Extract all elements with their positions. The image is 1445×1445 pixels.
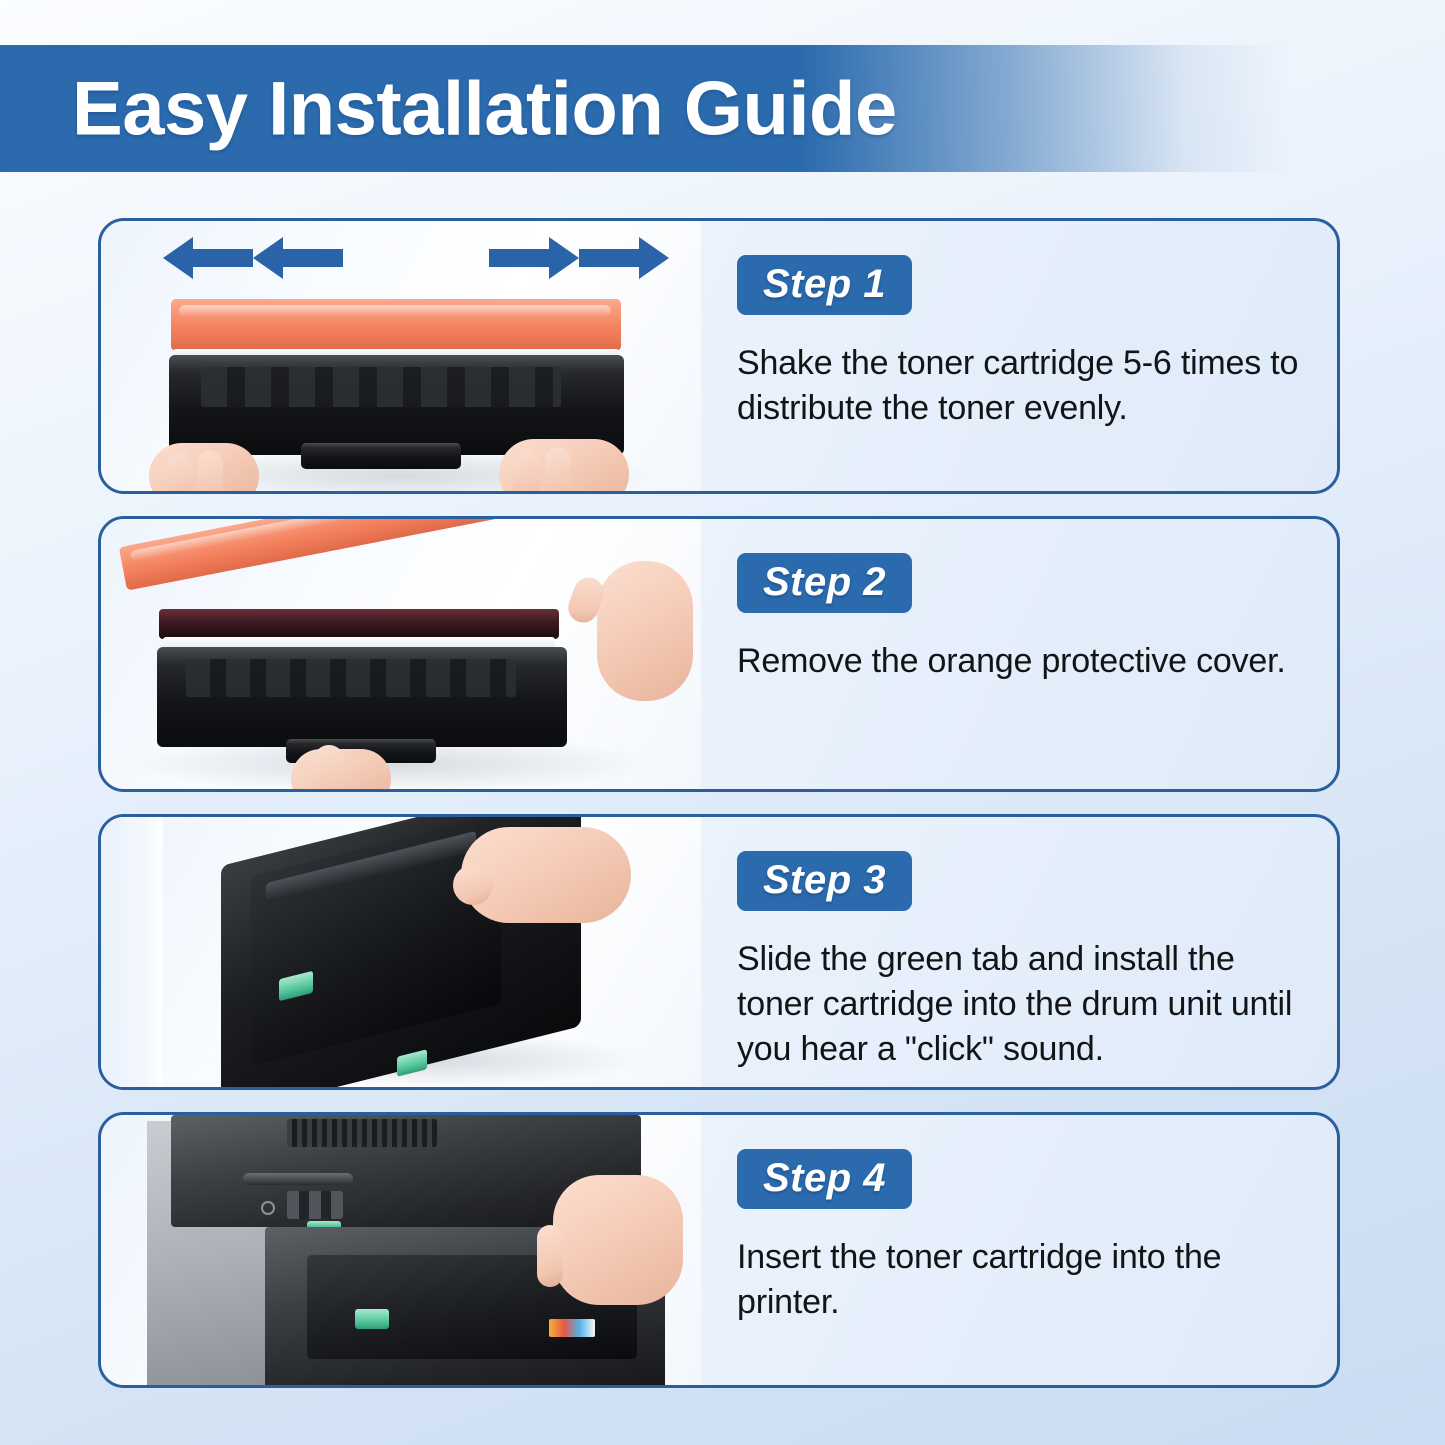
header-banner: Easy Installation Guide [0,45,1290,172]
step-4-photo [101,1115,701,1385]
cover-highlight [179,305,611,317]
index-finger [537,1225,563,1287]
step-card-1: Step 1 Shake the toner cartridge 5-6 tim… [98,218,1340,494]
page-title: Easy Installation Guide [72,65,897,152]
step-1-description: Shake the toner cartridge 5-6 times to d… [737,341,1307,431]
step-2-text-pane: Step 2 Remove the orange protective cove… [701,519,1337,789]
green-tab [355,1309,389,1329]
drum-roller [159,609,559,639]
step-2-photo [101,519,701,789]
upper-hand [597,561,693,701]
thumb [453,865,493,905]
cartridge-ribs [186,659,516,697]
right-hand-finger [545,447,571,491]
shake-arrows-group [101,235,701,281]
orange-cover-lifted [119,519,549,591]
left-hand-finger [197,451,223,491]
step-card-4: Step 4 Insert the toner cartridge into t… [98,1112,1340,1388]
step-1-badge: Step 1 [737,255,912,315]
cartridge-ribs [201,367,561,407]
arrow-right-icon [489,235,579,281]
step-2-badge: Step 2 [737,553,912,613]
step-card-2: Step 2 Remove the orange protective cove… [98,516,1340,792]
printer-display-slot [243,1173,353,1185]
steps-list: Step 1 Shake the toner cartridge 5-6 tim… [98,218,1342,1388]
step-3-photo [101,817,701,1087]
power-button-icon [261,1201,275,1215]
step-1-photo [101,221,701,491]
step-4-description: Insert the toner cartridge into the prin… [737,1235,1307,1325]
arrow-right-icon [579,235,669,281]
left-hand-finger [167,453,193,491]
cartridge-handle [301,443,461,469]
step-card-3: Step 3 Slide the green tab and install t… [98,814,1340,1090]
printer-control-buttons [287,1191,343,1219]
arrow-left-icon [253,235,343,281]
step-3-description: Slide the green tab and install the tone… [737,937,1307,1073]
printer-vent [287,1119,437,1147]
arrow-left-icon [163,235,253,281]
step-4-text-pane: Step 4 Insert the toner cartridge into t… [701,1115,1337,1385]
step-4-badge: Step 4 [737,1149,912,1209]
color-label [549,1319,595,1337]
lower-hand-finger [313,745,345,789]
step-2-description: Remove the orange protective cover. [737,639,1307,684]
photo-left-strip [101,817,163,1087]
step-3-text-pane: Step 3 Slide the green tab and install t… [701,817,1337,1087]
step-3-badge: Step 3 [737,851,912,911]
right-hand-finger [513,449,539,491]
hand-inserting-cartridge [553,1175,683,1305]
step-1-text-pane: Step 1 Shake the toner cartridge 5-6 tim… [701,221,1337,491]
